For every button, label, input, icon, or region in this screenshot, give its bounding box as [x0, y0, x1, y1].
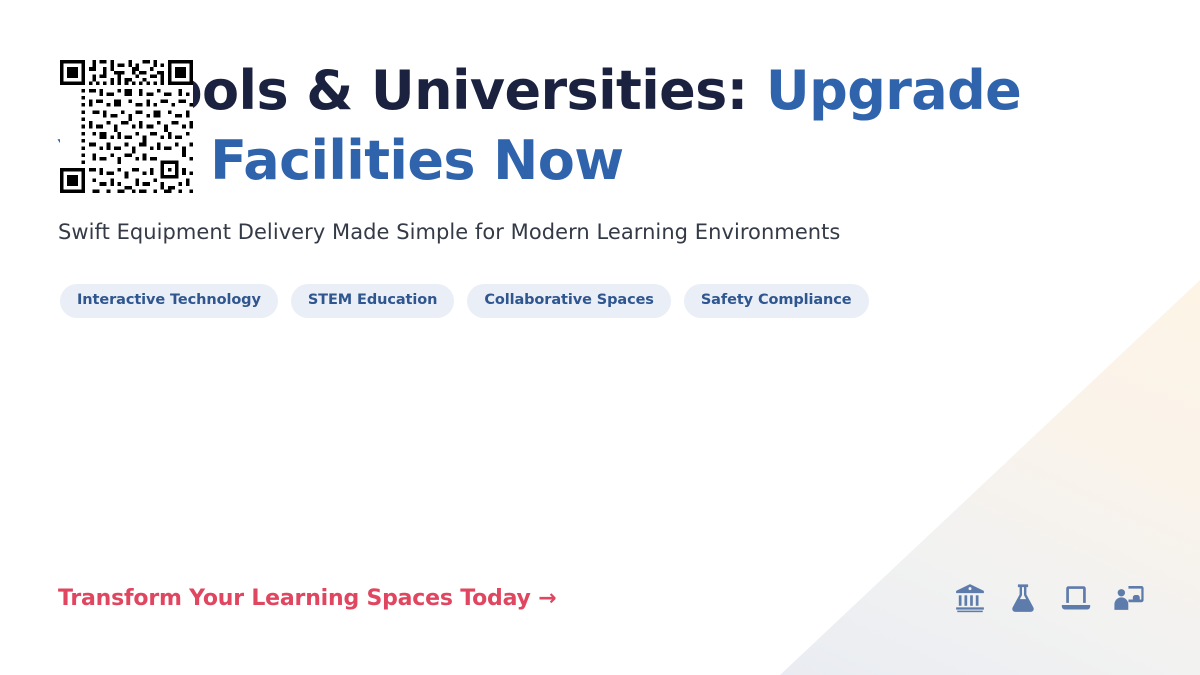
- poster-canvas: Schools & Universities: UpgradeYour Faci…: [0, 0, 1200, 675]
- cta-link[interactable]: Transform Your Learning Spaces Today →: [58, 586, 556, 611]
- tag-pill-stem-education[interactable]: STEM Education: [291, 284, 455, 318]
- tag-pill-collaborative-spaces[interactable]: Collaborative Spaces: [467, 284, 671, 318]
- tag-pill-safety-compliance[interactable]: Safety Compliance: [684, 284, 869, 318]
- science-flask-icon: [1006, 581, 1040, 615]
- university-building-icon: [953, 581, 987, 615]
- presentation-teacher-icon: [1112, 581, 1146, 615]
- headline-segment-accent-line1: Upgrade: [766, 59, 1021, 122]
- subtitle: Swift Equipment Delivery Made Simple for…: [58, 220, 840, 244]
- qr-code[interactable]: [60, 60, 193, 193]
- laptop-icon: [1059, 581, 1093, 615]
- icon-strip: [953, 581, 1146, 615]
- page-title: Schools & Universities: UpgradeYour Faci…: [58, 56, 1088, 196]
- tag-pill-interactive-technology[interactable]: Interactive Technology: [60, 284, 278, 318]
- decorative-corner-wedge: [780, 280, 1200, 675]
- tag-list: Interactive Technology STEM Education Co…: [60, 284, 869, 318]
